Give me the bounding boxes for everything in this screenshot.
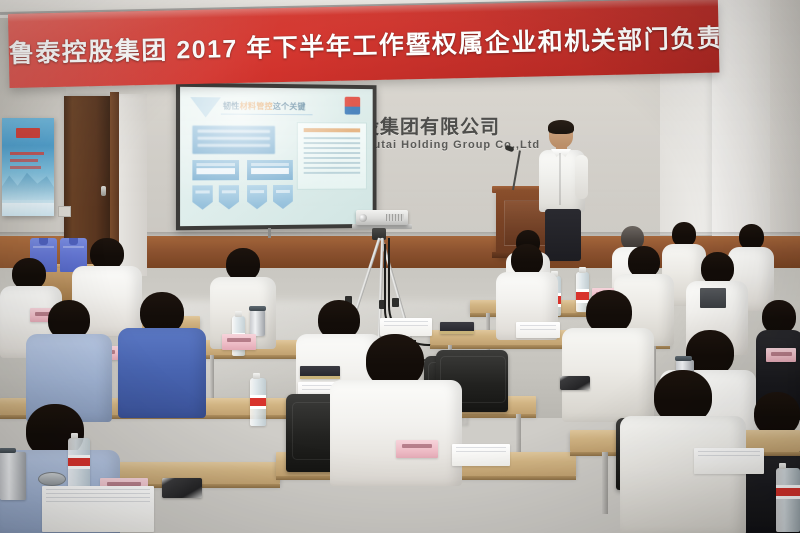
- projection-screen: 韧性材料管控这个关键: [180, 87, 373, 226]
- event-banner: 鲁泰控股集团 2017 年下半年工作暨权属企业和机关部门负责人述职评议会议: [8, 0, 719, 88]
- projector-vent: [386, 214, 404, 221]
- poster-text-line-2: [10, 159, 38, 162]
- attendee-head: [762, 300, 796, 334]
- thermos-lid: [38, 472, 66, 486]
- name-card: [396, 440, 438, 458]
- attendee-front-1: [26, 300, 112, 420]
- document-paper: [694, 448, 764, 474]
- slide-stat-right: [247, 160, 293, 180]
- poster-mountain-graphic: [2, 166, 54, 200]
- water-bottle: [776, 468, 800, 532]
- wall-corner: [660, 60, 714, 235]
- attendee-body: [620, 416, 746, 533]
- right-wall: [770, 0, 800, 250]
- thermos-foreground: [0, 452, 26, 500]
- door-handle[interactable]: [101, 186, 106, 196]
- slide-arrow-1: [192, 185, 212, 209]
- banner-title: 鲁泰控股集团 2017 年下半年工作暨权属企业和机关部门负责人述职评议会议: [8, 19, 719, 70]
- slide-arrow-2: [219, 185, 239, 209]
- attendee-body: [330, 380, 462, 486]
- thermos-cup: [250, 310, 265, 336]
- slide-title-underline: [221, 114, 313, 116]
- poster-text-line-1: [10, 152, 44, 155]
- poster-text-line-3: [10, 166, 41, 169]
- document-paper: [452, 444, 510, 466]
- document-paper: [516, 322, 560, 338]
- laptop-screen[interactable]: [700, 288, 726, 308]
- attendee-foreground-2: [330, 334, 462, 484]
- projector-lens-icon: [359, 214, 367, 222]
- smartphone[interactable]: [560, 376, 590, 390]
- attendee-front-2: [118, 292, 206, 416]
- slide-summary-box: [192, 126, 275, 154]
- slide-title: 韧性材料管控这个关键: [223, 100, 306, 112]
- document-foreground: [42, 486, 154, 532]
- wall-poster: [2, 118, 54, 216]
- slide-triangle-icon: [190, 97, 221, 118]
- speaker-arm: [575, 155, 588, 199]
- poster-footer-bar: [2, 203, 54, 216]
- conference-room-photo: 鲁泰控股集团有限公司 Shandong Lutai Holding Group …: [0, 0, 800, 533]
- slide-arrow-3: [247, 185, 267, 209]
- projector: [356, 210, 408, 225]
- notebook: [440, 322, 474, 334]
- smartphone-foreground[interactable]: [162, 478, 202, 498]
- screen-mount: [268, 228, 271, 238]
- speaker-hair: [548, 120, 574, 134]
- attendee-body: [118, 328, 206, 418]
- name-card: [222, 334, 256, 350]
- table-leg: [602, 452, 608, 514]
- slide-arrow-4: [273, 185, 293, 209]
- slide-stat-left: [192, 160, 239, 180]
- speaker-shirt-placket: [559, 153, 561, 205]
- name-card: [766, 348, 796, 362]
- poster-red-banner: [16, 128, 40, 138]
- slide-side-panel: [297, 122, 367, 190]
- projection-screen-frame: 韧性材料管控这个关键: [176, 83, 377, 231]
- wall-switch-plate[interactable]: [58, 206, 71, 217]
- structural-pillar: [712, 0, 770, 250]
- slide-corner-logo: [345, 97, 360, 115]
- water-bottle: [250, 378, 266, 426]
